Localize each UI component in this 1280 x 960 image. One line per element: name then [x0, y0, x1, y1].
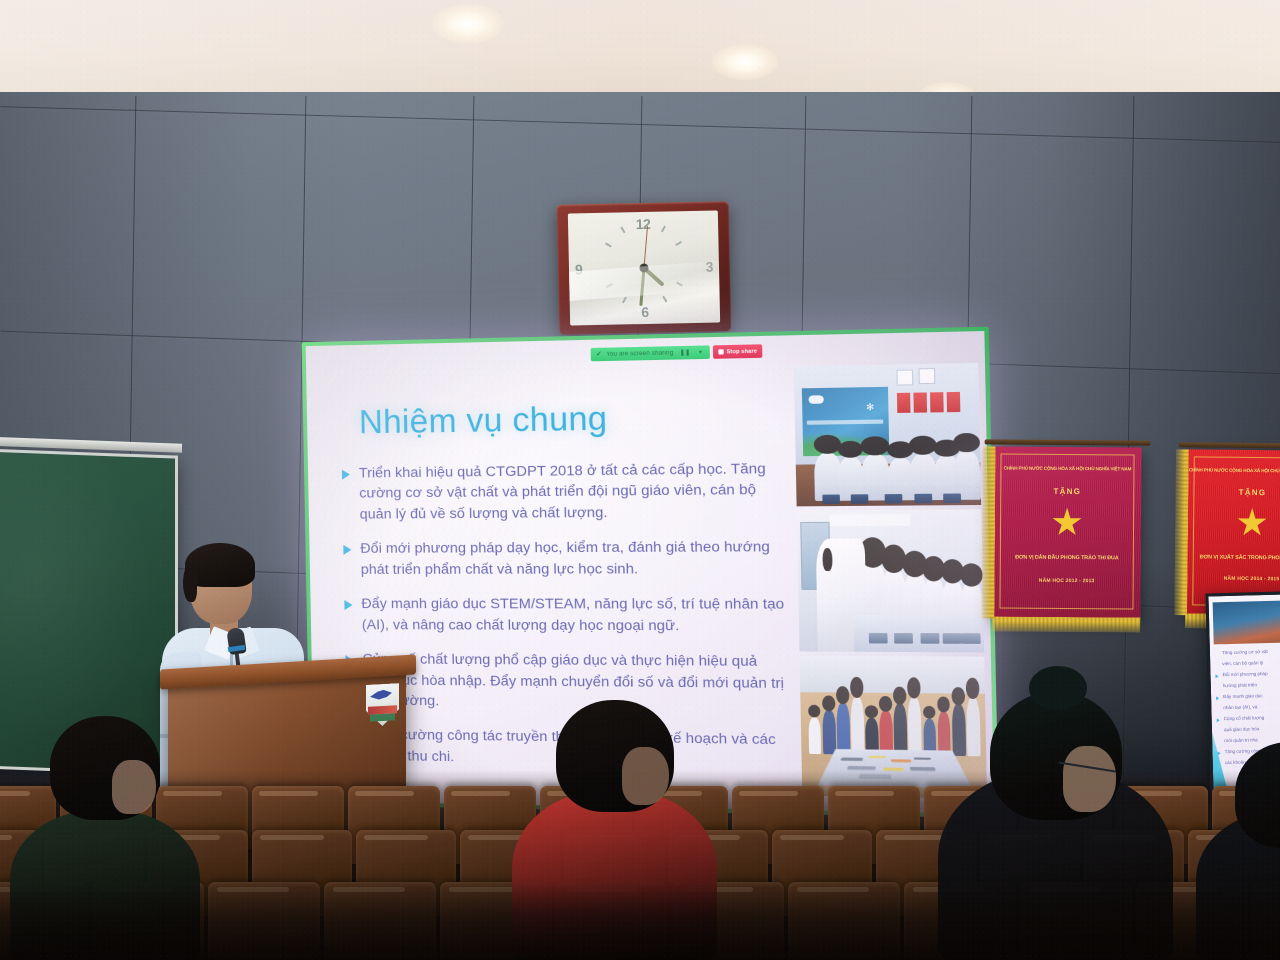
- monitor-bullet-arrow-icon: [1216, 674, 1219, 678]
- banner-fringe-left: [981, 446, 995, 618]
- wall-clock: 12 3 6 9: [557, 201, 732, 335]
- monitor-text-line: Đổi mới phương pháp: [1222, 671, 1267, 677]
- seat-highlight: [364, 835, 428, 840]
- stop-share-button[interactable]: Stop share: [713, 344, 763, 359]
- slide-bullet: Đổi mới phương pháp dạy học, kiểm tra, đ…: [343, 537, 785, 580]
- monitor-text-line: Tăng cường cơ sở vật: [1222, 649, 1268, 655]
- audience-face: [112, 760, 156, 814]
- slide-bullet: Đẩy mạnh giáo dục STEM/STEAM, năng lực s…: [344, 594, 786, 637]
- clock-tick: [605, 242, 612, 247]
- share-pause-icon[interactable]: ❚❚: [677, 349, 692, 357]
- screen-share-toolbar[interactable]: ✓ You are screen sharing ❚❚ ▾ Stop share: [591, 344, 763, 361]
- clock-tick: [622, 296, 627, 303]
- photo1-projector-tint: [794, 363, 981, 507]
- banner-gold-border: [1192, 456, 1280, 607]
- slide-bullet: Triển khai hiệu quả CTGDPT 2018 ở tất cả…: [342, 459, 784, 526]
- seat-highlight: [260, 835, 324, 840]
- ceiling-downlight: [432, 4, 504, 44]
- seat-highlight: [355, 791, 414, 796]
- photo-teacher-observing: [797, 510, 984, 652]
- banner-cloth: CHÍNH PHỦ NƯỚC CỘNG HÒA XÃ HỘI CHỦ NGHĨA…: [992, 446, 1141, 619]
- speaker-hair-side: [183, 564, 197, 602]
- conference-hall-scene: 12 3 6 9 ✓ You are screen sharing ❚❚: [0, 0, 1280, 960]
- bullet-arrow-icon: [344, 600, 352, 610]
- crest-base: [370, 713, 395, 721]
- banner-fringe-left: [1174, 449, 1189, 615]
- banner-gold-border: [1000, 453, 1134, 609]
- bullet-arrow-icon: [342, 470, 350, 480]
- honor-banner-primary: CHÍNH PHỦ NƯỚC CỘNG HÒA XÃ HỘI CHỦ NGHĨA…: [992, 446, 1141, 619]
- share-status-pill: ✓ You are screen sharing ❚❚ ▾: [591, 345, 710, 361]
- seat-highlight: [259, 791, 318, 796]
- monitor-text-line: hướng phát triển: [1223, 682, 1257, 688]
- bullet-text: Đẩy mạnh giáo dục STEM/STEAM, năng lực s…: [361, 594, 786, 637]
- photo-classroom-laptops: ✻: [794, 363, 981, 507]
- banner-tang-label: TẶNG: [993, 486, 1141, 496]
- stop-square-icon: [718, 349, 723, 354]
- monitor-text-lines: Tăng cường cơ sở vậtviên, cán bộ quản lý…: [1208, 594, 1280, 597]
- monitor-photo-strip: [1213, 599, 1280, 644]
- banner-award-line: ĐƠN VỊ DẪN ĐẦU PHONG TRÀO THI ĐUA: [993, 555, 1141, 562]
- hair-bun: [1029, 666, 1087, 710]
- foreground-shadow: [0, 880, 1280, 960]
- monitor-text-line: quả giáo dục hòa: [1224, 726, 1259, 732]
- seat-highlight: [451, 791, 510, 796]
- banner-government-line: CHÍNH PHỦ NƯỚC CỘNG HÒA XÃ HỘI CHỦ NGHĨA…: [993, 465, 1141, 471]
- share-status-text: You are screen sharing: [606, 350, 673, 358]
- bullet-text: Đổi mới phương pháp dạy học, kiểm tra, đ…: [360, 537, 785, 580]
- slide-title: Nhiệm vụ chung: [359, 399, 608, 441]
- seat-highlight: [835, 791, 894, 796]
- clock-second-hand: [644, 226, 649, 268]
- bullet-text: Triển khai hiệu quả CTGDPT 2018 ở tất cả…: [359, 459, 784, 525]
- banner-year-line: NĂM HỌC 2012 - 2013: [993, 577, 1141, 584]
- clock-tick: [675, 241, 682, 246]
- monitor-bullet-arrow-icon: [1216, 696, 1219, 700]
- clock-face: 12 3 6 9: [568, 210, 720, 325]
- stop-share-label: Stop share: [726, 348, 757, 355]
- banner-tang-label: TẶNG: [1186, 487, 1280, 497]
- audience-face: [622, 747, 669, 805]
- clock-tick: [661, 225, 666, 232]
- monitor-text-line: Củng cố chất lượng: [1224, 715, 1265, 721]
- check-icon: ✓: [596, 351, 602, 358]
- clock-numeral-6: 6: [641, 304, 649, 320]
- monitor-text-line: Đẩy mạnh giáo dục: [1223, 693, 1263, 699]
- monitor-text-line: nhân tạo (AI), và: [1223, 704, 1257, 710]
- clock-tick: [662, 296, 667, 303]
- audience-face: [1063, 746, 1116, 813]
- clock-tick: [620, 226, 625, 233]
- seat-highlight: [739, 791, 798, 796]
- banner-fringe-bottom: [992, 616, 1140, 632]
- bullet-arrow-icon: [343, 545, 351, 555]
- monitor-text-line: viên, cán bộ quản lý: [1222, 660, 1263, 666]
- share-expand-icon[interactable]: ▾: [697, 349, 705, 356]
- ceiling-downlight: [712, 44, 778, 80]
- photo2-projector-tint: [797, 510, 984, 652]
- clock-numeral-12: 12: [636, 216, 651, 232]
- monitor-bullet-arrow-icon: [1217, 718, 1220, 722]
- seat-highlight: [780, 835, 844, 840]
